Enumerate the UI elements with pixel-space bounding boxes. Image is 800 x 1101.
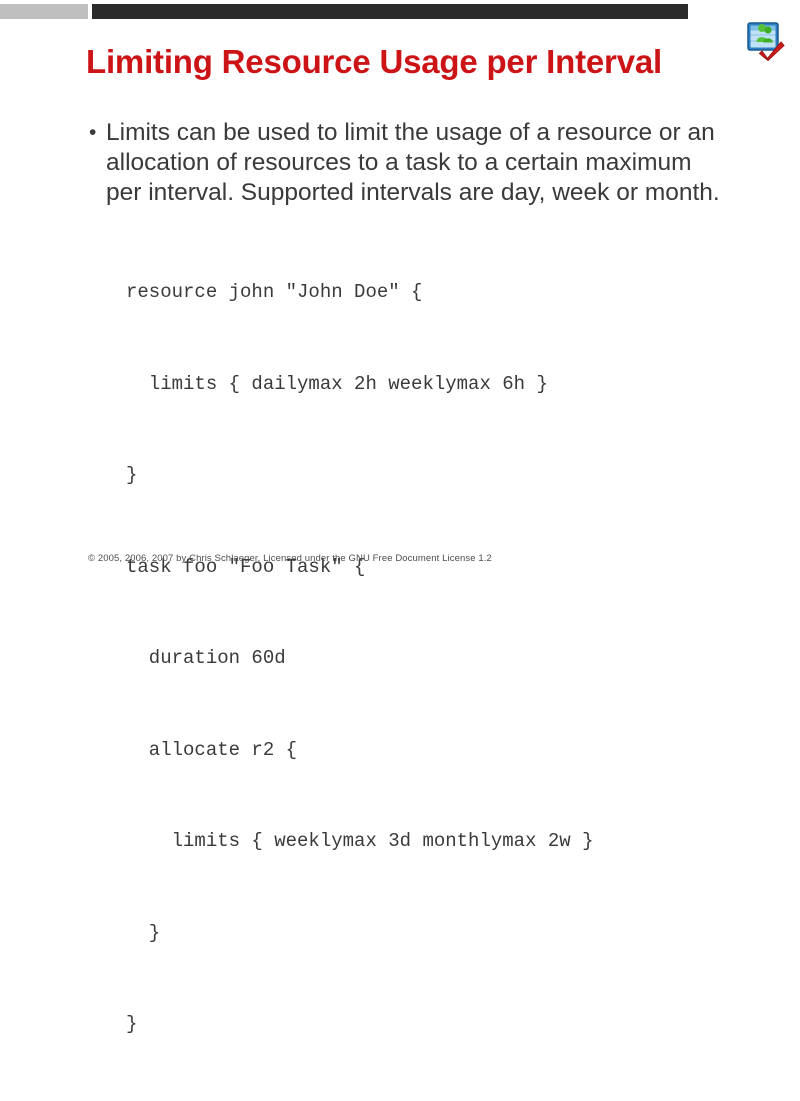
bullet-marker-icon: • [86,118,106,148]
code-line: limits { dailymax 2h weeklymax 6h } [126,369,766,400]
header-bar-right [92,4,688,19]
code-line: allocate r2 { [126,735,766,766]
code-line: } [126,1009,766,1040]
slide-body: • Limits can be used to limit the usage … [86,118,766,1101]
code-line: } [126,460,766,491]
code-line: resource john "John Doe" { [126,277,766,308]
copyright-footer: © 2005, 2006, 2007 by Chris Schlaeger, L… [88,553,492,564]
code-line: duration 60d [126,643,766,674]
code-block: resource john "John Doe" { limits { dail… [126,216,766,1101]
tasks-checklist-icon [745,20,787,62]
header-bar-left [0,4,88,19]
header-decoration [0,4,800,20]
list-item: • Limits can be used to limit the usage … [86,118,766,208]
slide-page: { "decor": { "bar_left_color": "#bfbfbf"… [0,0,800,600]
bullet-text: Limits can be used to limit the usage of… [106,118,726,208]
code-line: } [126,918,766,949]
page-title: Limiting Resource Usage per Interval [86,42,726,82]
code-line: limits { weeklymax 3d monthlymax 2w } [126,826,766,857]
